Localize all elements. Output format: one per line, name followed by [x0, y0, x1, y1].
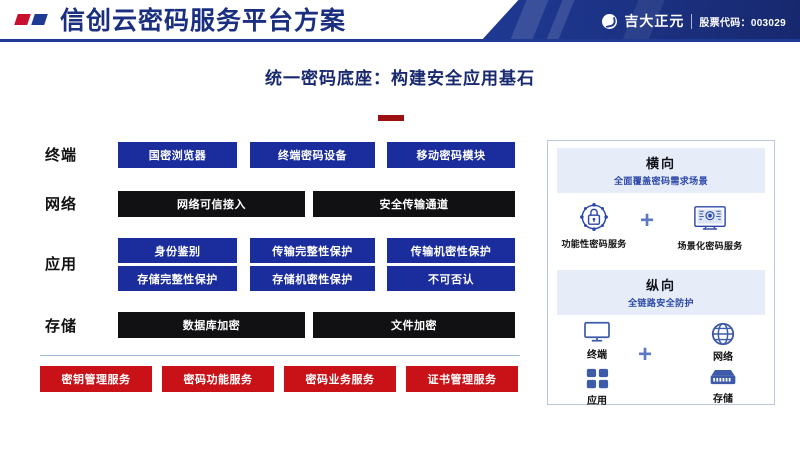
panel-vertical-header: 纵向 全链路安全防护 [557, 270, 765, 315]
service-button[interactable]: 密钥管理服务 [40, 366, 152, 392]
panel-vertical-body: 终端 网络 + [548, 321, 774, 409]
panel-item-scenario-crypto[interactable]: 场景化密码服务 [670, 205, 750, 252]
side-panel: 横向 全面覆盖密码需求场景 [547, 140, 775, 405]
title-divider [378, 115, 404, 121]
slide-header: 信创云密码服务平台方案 吉大正元 股票代码：003029 [0, 0, 800, 42]
logo-separator [691, 14, 692, 29]
panel-item-label: 网络 [688, 348, 758, 363]
globe-icon [688, 321, 758, 347]
layer-item[interactable]: 存储机密性保护 [250, 266, 375, 291]
layer-label-network: 网络 [45, 193, 77, 214]
panel-item-network[interactable]: 网络 [688, 321, 758, 363]
layer-label-application: 应用 [45, 253, 77, 274]
slide-root: 信创云密码服务平台方案 吉大正元 股票代码：003029 统一密码底座：构建安全… [0, 0, 800, 450]
stock-code: 股票代码：003029 [699, 14, 786, 29]
panel-item-functional-crypto[interactable]: 功能性密码服务 [554, 199, 634, 250]
panel-vertical: 纵向 全链路安全防护 终端 [548, 263, 774, 404]
panel-item-label: 存储 [688, 390, 758, 405]
panel-vertical-title: 纵向 [557, 275, 765, 294]
service-button[interactable]: 证书管理服务 [406, 366, 518, 392]
layer-item[interactable]: 不可否认 [387, 266, 515, 291]
layer-item[interactable]: 文件加密 [313, 312, 515, 338]
brand-circle-icon [602, 14, 617, 29]
service-button[interactable]: 密码功能服务 [162, 366, 274, 392]
monitor-icon [562, 321, 632, 345]
layer-item[interactable]: 传输机密性保护 [387, 238, 515, 263]
layer-item[interactable]: 安全传输通道 [313, 191, 515, 217]
panel-item-storage[interactable]: 存储 [688, 367, 758, 405]
panel-item-label: 终端 [562, 346, 632, 361]
shield-lock-icon [554, 199, 634, 235]
layer-item[interactable]: 终端密码设备 [250, 142, 375, 168]
layer-item[interactable]: 传输完整性保护 [250, 238, 375, 263]
panel-item-label: 场景化密码服务 [670, 239, 750, 252]
panel-item-terminal[interactable]: 终端 [562, 321, 632, 361]
layer-item[interactable]: 国密浏览器 [118, 142, 237, 168]
server-icon [688, 367, 758, 389]
plus-icon-vertical: + [638, 343, 652, 367]
panel-horizontal-header: 横向 全面覆盖密码需求场景 [557, 148, 765, 193]
layer-item[interactable]: 存储完整性保护 [118, 266, 237, 291]
panel-horizontal-subtitle: 全面覆盖密码需求场景 [557, 174, 765, 187]
layer-item[interactable]: 移动密码模块 [387, 142, 515, 168]
layer-label-storage: 存储 [45, 315, 77, 336]
panel-vertical-subtitle: 全链路安全防护 [557, 296, 765, 309]
section-divider [40, 355, 520, 356]
double-parallelogram-icon [16, 14, 54, 27]
grid-apps-icon [562, 367, 632, 391]
layer-item[interactable]: 网络可信接入 [118, 191, 305, 217]
panel-item-application[interactable]: 应用 [562, 367, 632, 407]
layer-item[interactable]: 身份鉴别 [118, 238, 237, 263]
panel-item-label: 功能性密码服务 [554, 237, 634, 250]
panel-item-label: 应用 [562, 392, 632, 407]
layer-item[interactable]: 数据库加密 [118, 312, 305, 338]
plus-icon-horizontal: + [640, 209, 654, 233]
panel-horizontal: 横向 全面覆盖密码需求场景 [548, 141, 774, 259]
layer-label-terminal: 终端 [45, 144, 77, 165]
monitor-icon [670, 205, 750, 237]
service-button-row: 密钥管理服务 密码功能服务 密码业务服务 证书管理服务 [0, 366, 530, 394]
header-underline [0, 39, 800, 42]
section-title: 统一密码底座：构建安全应用基石 [0, 64, 800, 89]
brand-logo: 吉大正元 股票代码：003029 [602, 11, 786, 31]
page-title: 信创云密码服务平台方案 [60, 5, 346, 37]
brand-name: 吉大正元 [624, 11, 684, 31]
panel-horizontal-title: 横向 [557, 153, 765, 172]
panel-horizontal-body: 功能性密码服务 + [548, 199, 774, 263]
service-button[interactable]: 密码业务服务 [284, 366, 396, 392]
